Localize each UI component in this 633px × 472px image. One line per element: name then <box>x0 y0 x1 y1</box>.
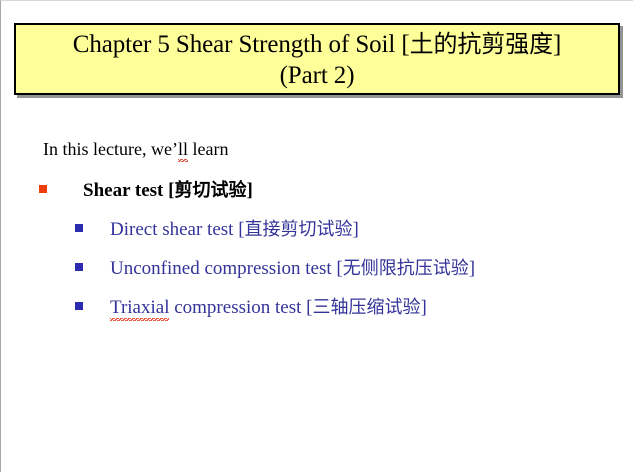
bullet-level2-triaxial-compression-test: Triaxial compression test [三轴压缩试验] <box>75 295 633 320</box>
slide-body: In this lecture, we’ll learn Shear test … <box>1 137 633 320</box>
bullet-level2-chinese: 直接剪切试验 <box>245 219 353 240</box>
slide-title-line-1-chinese: 土的抗剪强度 <box>410 30 553 58</box>
square-bullet-icon <box>75 302 83 310</box>
slide-title-box: Chapter 5 Shear Strength of Soil [土的抗剪强度… <box>14 23 620 95</box>
intro-text-before: In this lecture, we’ <box>43 139 178 159</box>
bullet-level1-chinese: 剪切试验 <box>174 180 246 201</box>
bullet-level2-bracket-close: ] <box>353 219 359 240</box>
slide-title-line-2: (Part 2) <box>280 60 355 91</box>
bullet-level2-misspelled-word: Triaxial <box>110 295 169 320</box>
slide-title-line-1: Chapter 5 Shear Strength of Soil [土的抗剪强度… <box>73 29 561 60</box>
bullet-level2-bracket-close: ] <box>420 297 426 318</box>
bullet-level2-chinese: 三轴压缩试验 <box>312 297 420 318</box>
bullet-level1-shear-test: Shear test [剪切试验] <box>39 179 633 203</box>
bullet-level2-english: Direct shear test [ <box>110 219 245 240</box>
bullet-level2-label: Unconfined compression test [无侧限抗压试验] <box>110 256 475 281</box>
bullet-level1-label: Shear test [剪切试验] <box>83 179 253 203</box>
square-bullet-icon <box>39 185 47 193</box>
bullet-level2-bracket-close: ] <box>469 258 475 279</box>
intro-text-after: learn <box>188 139 228 159</box>
slide-title-line-1-english: Chapter 5 Shear Strength of Soil [ <box>73 31 410 58</box>
bullet-level2-english: Unconfined compression test [ <box>110 258 343 279</box>
bullet-level2-label: Direct shear test [直接剪切试验] <box>110 217 359 242</box>
bullet-level2-english-after: compression test [ <box>169 297 312 318</box>
bullet-level1-english: Shear test [ <box>83 180 174 201</box>
square-bullet-icon <box>75 224 83 232</box>
bullet-level2-label: Triaxial compression test [三轴压缩试验] <box>110 295 427 320</box>
intro-text: In this lecture, we’ll learn <box>43 137 633 161</box>
bullet-level1-bracket-close: ] <box>246 180 252 201</box>
slide-title-line-1-bracket-close: ] <box>553 31 561 58</box>
square-bullet-icon <box>75 263 83 271</box>
bullet-level2-chinese: 无侧限抗压试验 <box>343 258 469 279</box>
presentation-slide: Chapter 5 Shear Strength of Soil [土的抗剪强度… <box>0 0 633 472</box>
bullet-level2-direct-shear-test: Direct shear test [直接剪切试验] <box>75 217 633 242</box>
intro-text-misspelled-word: ll <box>178 137 188 161</box>
bullet-level2-unconfined-compression-test: Unconfined compression test [无侧限抗压试验] <box>75 256 633 281</box>
